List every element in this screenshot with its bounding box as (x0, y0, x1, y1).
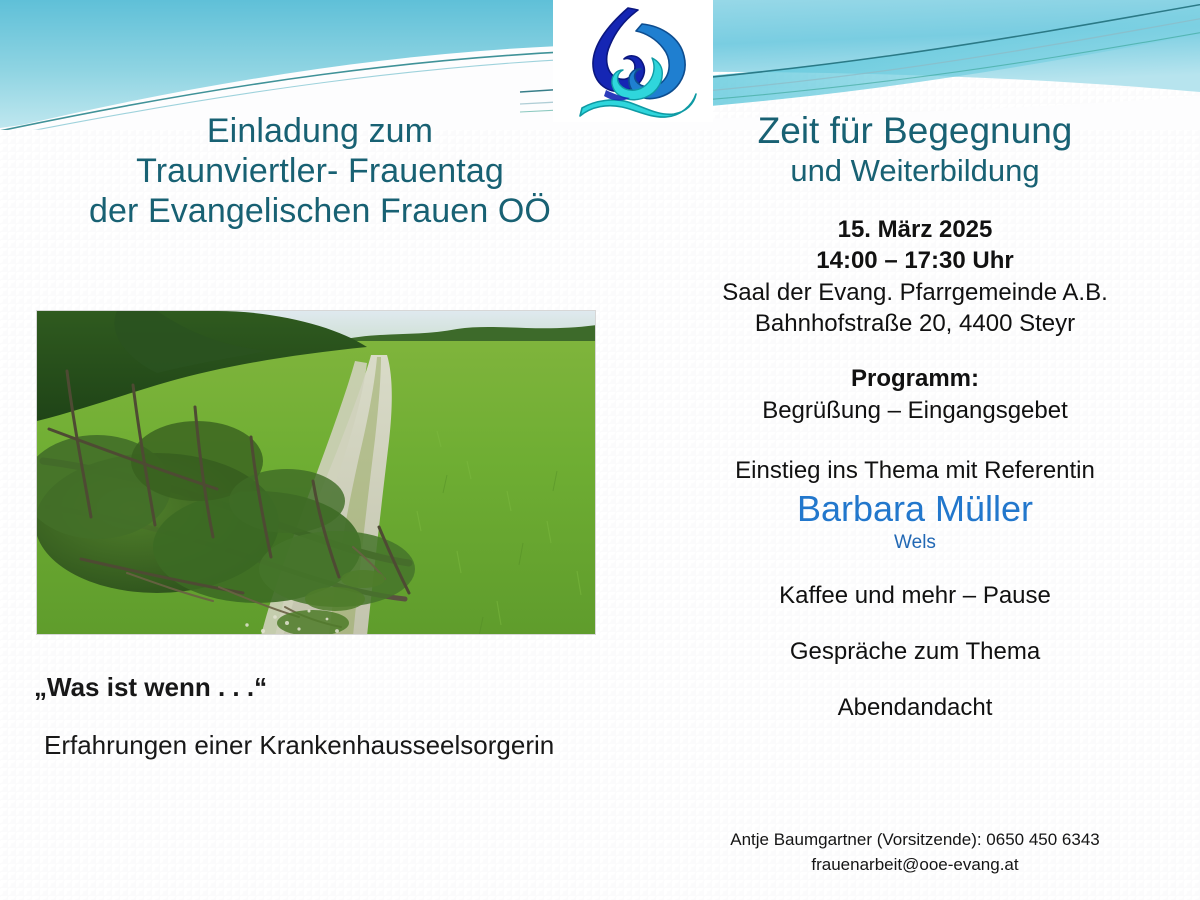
venue-address: Bahnhofstraße 20, 4400 Steyr (690, 308, 1140, 339)
right-column: Zeit für Begegnung und Weiterbildung 15.… (690, 110, 1140, 722)
spiral-wave-icon (566, 4, 702, 122)
photo-caption-quote: „Was ist wenn . . .“ (34, 672, 634, 703)
programme-item-coffee-break: Kaffee und mehr – Pause (690, 582, 1140, 610)
programme-label: Programm: (690, 365, 1140, 393)
programme-item-discussion: Gespräche zum Thema (690, 638, 1140, 666)
programme-item-evening-devotion: Abendandacht (690, 694, 1140, 722)
contact-person: Antje Baumgartner (Vorsitzende): 0650 45… (690, 828, 1140, 853)
photo-illustration (37, 311, 596, 635)
invitation-title-line-3: der Evangelischen Frauen OÖ (0, 192, 640, 232)
evangelische-frauen-spiral-wave-logo (566, 4, 702, 122)
venue-name: Saal der Evang. Pfarrgemeinde A.B. (690, 277, 1140, 308)
fallen-tree-on-field-path-photo (36, 310, 596, 635)
photo-caption-subtitle: Erfahrungen einer Krankenhausseelsorgeri… (44, 730, 664, 761)
event-time: 14:00 – 17:30 Uhr (690, 246, 1140, 277)
flyer-page: Einladung zum Traunviertler- Frauentag d… (0, 0, 1200, 900)
speaker-city: Wels (690, 532, 1140, 554)
footer-contact: Antje Baumgartner (Vorsitzende): 0650 45… (690, 828, 1140, 877)
contact-email[interactable]: frauenarbeit@ooe-evang.at (690, 853, 1140, 878)
invitation-title-line-1: Einladung zum (0, 112, 640, 152)
invitation-title-line-2: Traunviertler- Frauentag (0, 152, 640, 192)
invitation-title: Einladung zum Traunviertler- Frauentag d… (0, 112, 640, 231)
programme-item-introduction: Einstieg ins Thema mit Referentin (690, 457, 1140, 485)
event-headline-line-1: Zeit für Begegnung (690, 110, 1140, 151)
event-headline-line-2: und Weiterbildung (690, 153, 1140, 189)
left-column: Einladung zum Traunviertler- Frauentag d… (0, 112, 640, 231)
programme-item-welcome: Begrüßung – Eingangsgebet (690, 397, 1140, 425)
event-date: 15. März 2025 (690, 215, 1140, 246)
speaker-name: Barbara Müller (690, 489, 1140, 529)
